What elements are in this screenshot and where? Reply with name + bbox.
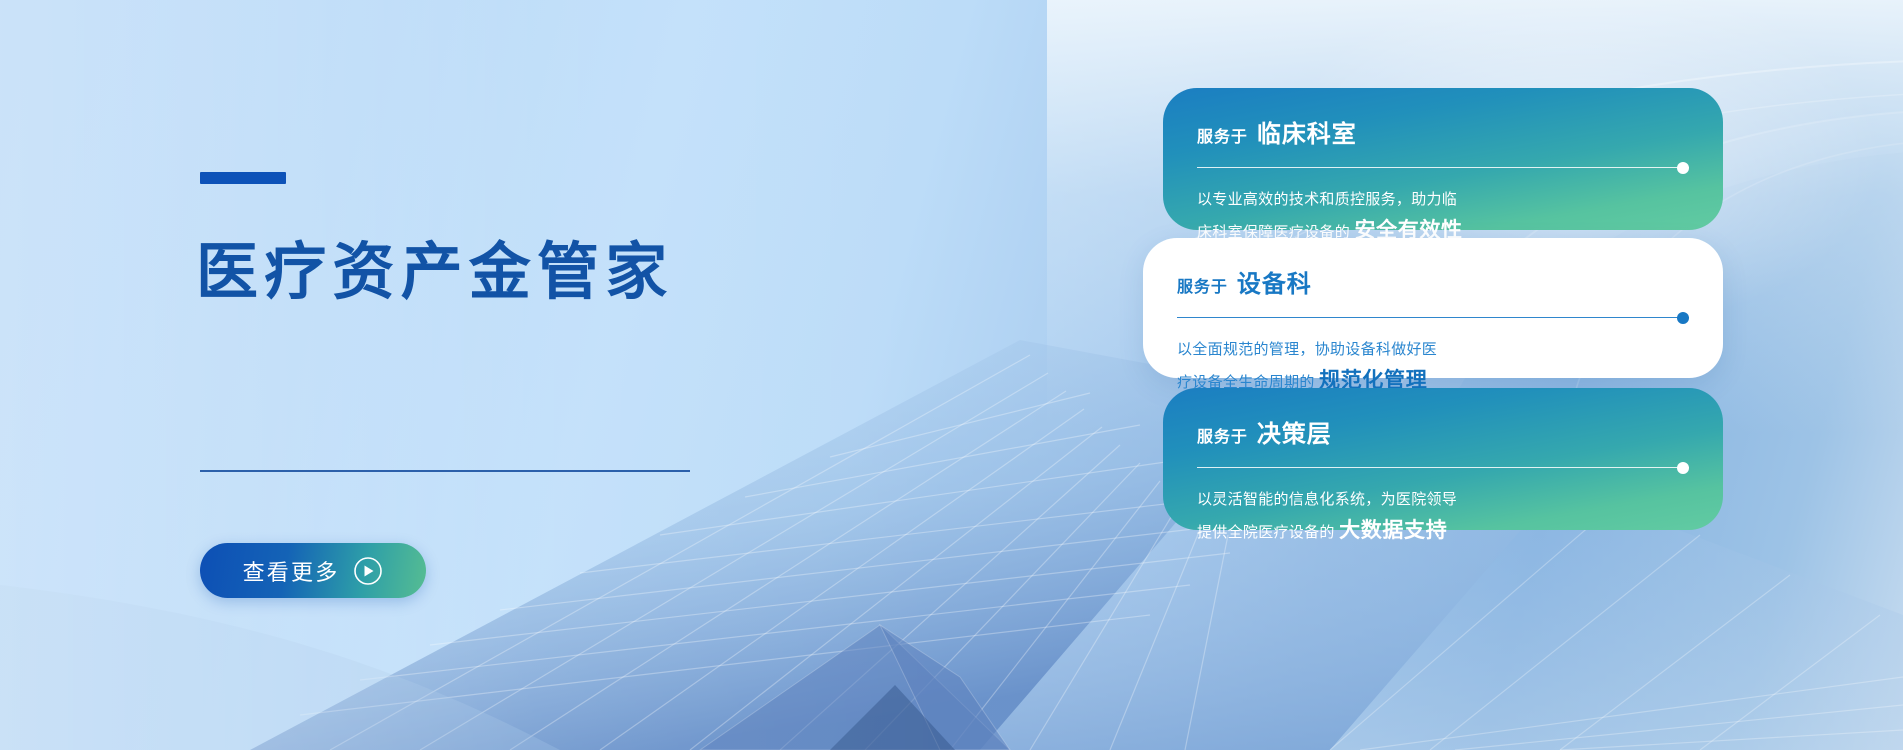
card-title-prefix: 服务于 (1197, 429, 1248, 446)
card-body-line1: 以全面规范的管理，协助设备科做好医 (1177, 341, 1437, 358)
service-card-clinical[interactable]: 服务于临床科室 以专业高效的技术和质控服务，助力临 床科室保障医疗设备的 安全有… (1163, 88, 1723, 230)
card-title-target: 决策层 (1257, 421, 1332, 448)
arrow-right-circle-icon (353, 556, 383, 586)
view-more-button[interactable]: 查看更多 (200, 543, 426, 598)
card-body-line1: 以灵活智能的信息化系统，为医院领导 (1197, 491, 1457, 508)
card-title-prefix: 服务于 (1197, 129, 1248, 146)
card-rule-dot (1677, 312, 1689, 324)
card-body-highlight: 大数据支持 (1339, 519, 1447, 542)
card-rule (1177, 312, 1689, 324)
service-card-equipment[interactable]: 服务于设备科 以全面规范的管理，协助设备科做好医 疗设备全生命周期的 规范化管理 (1143, 238, 1723, 378)
horizontal-divider (200, 470, 690, 472)
service-card-decision[interactable]: 服务于决策层 以灵活智能的信息化系统，为医院领导 提供全院医疗设备的 大数据支持 (1163, 388, 1723, 530)
card-title: 服务于决策层 (1197, 414, 1689, 449)
page-title: 医疗资产金管家 (196, 239, 673, 307)
card-title: 服务于临床科室 (1197, 114, 1689, 149)
hero-banner: 医疗资产金管家 查看更多 服务于临床科室 以专业高效的技术和质控服务，助力临 床… (0, 0, 1903, 750)
service-cards: 服务于临床科室 以专业高效的技术和质控服务，助力临 床科室保障医疗设备的 安全有… (1163, 0, 1903, 750)
accent-dash (200, 172, 286, 184)
card-title-target: 设备科 (1237, 271, 1312, 298)
card-rule-dot (1677, 462, 1689, 474)
card-rule (1197, 462, 1689, 474)
card-body-line1: 以专业高效的技术和质控服务，助力临 (1197, 191, 1457, 208)
card-body: 以灵活智能的信息化系统，为医院领导 提供全院医疗设备的 大数据支持 (1197, 487, 1689, 549)
card-rule-dot (1677, 162, 1689, 174)
card-title-prefix: 服务于 (1177, 279, 1228, 296)
view-more-label: 查看更多 (243, 555, 340, 587)
card-body-line2: 提供全院医疗设备的 (1197, 524, 1335, 541)
card-rule-line (1197, 167, 1689, 168)
card-title-target: 临床科室 (1257, 121, 1357, 148)
hero-left-column: 医疗资产金管家 查看更多 (196, 0, 816, 750)
card-title: 服务于设备科 (1177, 264, 1689, 299)
card-rule-line (1197, 467, 1689, 468)
card-rule (1197, 162, 1689, 174)
card-rule-line (1177, 317, 1689, 318)
